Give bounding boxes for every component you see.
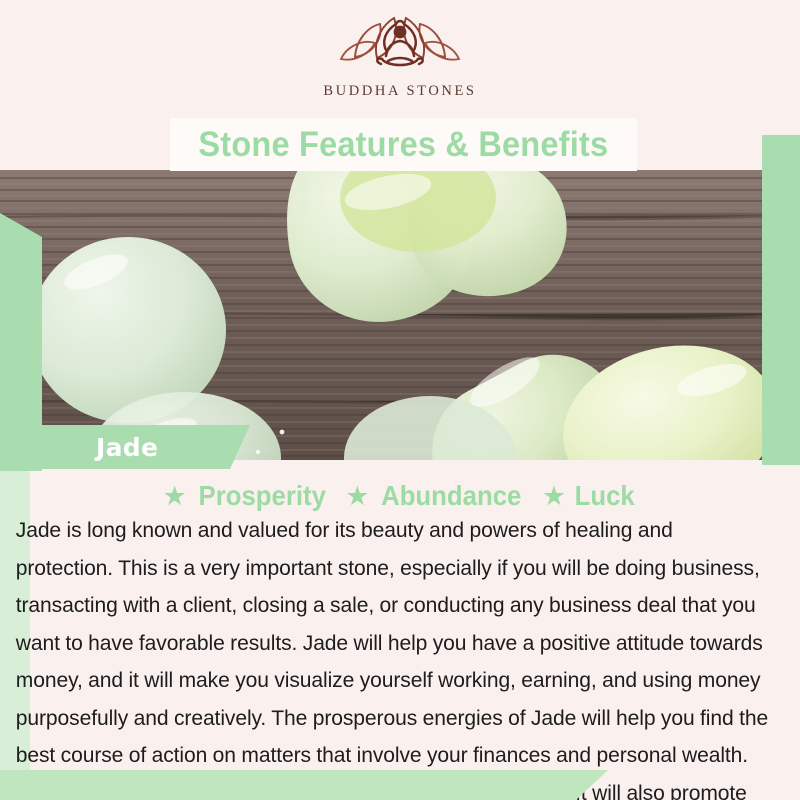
page-title: Stone Features & Benefits	[199, 125, 609, 165]
stone-name-label: Jade	[18, 425, 250, 469]
benefit-label: Prosperity	[198, 480, 325, 512]
benefit-item-prosperity: ★ Prosperity	[163, 480, 332, 512]
stone-info-card: BUDDHA STONES Stone Features & Benefits	[0, 0, 800, 800]
content-area: ★ Prosperity ★ Abundance ★ Luck Jade is …	[0, 460, 800, 800]
benefit-item-luck: ★ Luck	[542, 480, 638, 512]
stone-name: Jade	[96, 433, 158, 462]
stone-photo	[0, 170, 800, 460]
brand-header: BUDDHA STONES	[0, 0, 800, 118]
title-banner: Stone Features & Benefits	[170, 118, 637, 171]
benefits-row: ★ Prosperity ★ Abundance ★ Luck	[0, 476, 800, 516]
star-icon: ★	[542, 483, 566, 510]
decor-band-right	[762, 135, 800, 465]
benefit-item-abundance: ★ Abundance	[345, 480, 528, 512]
decor-band-bottom	[0, 770, 608, 800]
benefit-label: Luck	[575, 480, 635, 512]
benefit-label: Abundance	[382, 480, 522, 512]
star-icon: ★	[163, 483, 187, 510]
stone-description: Jade is long known and valued for its be…	[0, 512, 788, 800]
brand-name: BUDDHA STONES	[323, 83, 476, 100]
lotus-meditation-icon	[325, 12, 475, 80]
description-wrap: Jade is long known and valued for its be…	[0, 512, 800, 800]
star-icon: ★	[345, 483, 369, 510]
